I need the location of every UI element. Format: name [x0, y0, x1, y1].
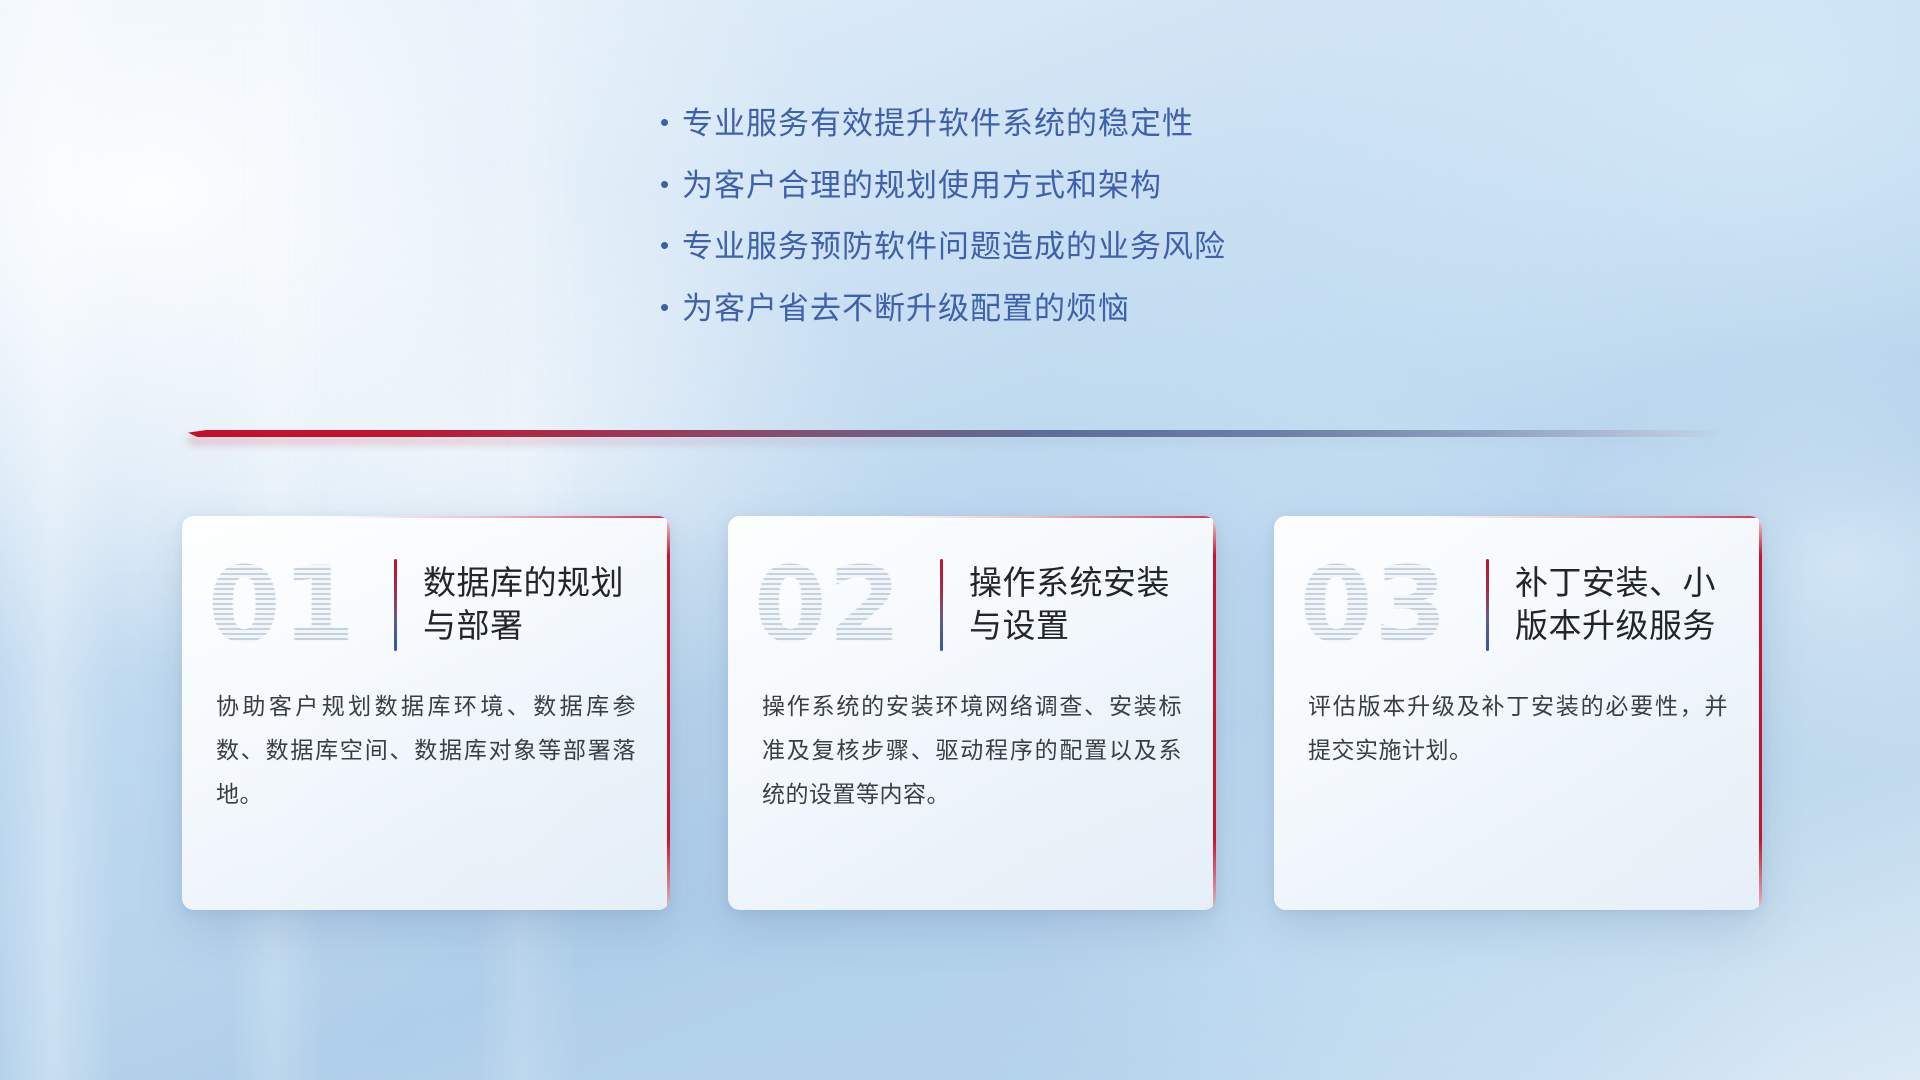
card-header: 01 数据库的规划与部署 [182, 516, 670, 666]
list-item: • 为客户合理的规划使用方式和架构 [660, 166, 1226, 206]
list-item: • 专业服务预防软件问题造成的业务风险 [660, 227, 1226, 267]
card-header: 03 补丁安装、小版本升级服务 [1274, 516, 1762, 666]
card-divider-bar [1486, 559, 1489, 651]
card-description: 协助客户规划数据库环境、数据库参数、数据库空间、数据库对象等部署落地。 [182, 666, 670, 816]
card-description: 评估版本升级及补丁安装的必要性，并提交实施计划。 [1274, 666, 1762, 772]
card-header: 02 操作系统安装与设置 [728, 516, 1216, 666]
section-divider [188, 424, 1728, 446]
card-number-badge: 02 [754, 553, 940, 657]
card-divider-bar [940, 559, 943, 651]
card-description: 操作系统的安装环境网络调查、安装标准及复核步骤、驱动程序的配置以及系统的设置等内… [728, 666, 1216, 816]
card-number-badge: 01 [208, 553, 394, 657]
benefits-bullet-list: • 专业服务有效提升软件系统的稳定性 • 为客户合理的规划使用方式和架构 • 专… [660, 104, 1226, 351]
bullet-text: 为客户合理的规划使用方式和架构 [682, 166, 1162, 206]
service-card-group: 01 数据库的规划与部署 协助客户规划数据库环境、数据库参数、数据库空间、数据库… [182, 516, 1762, 910]
divider-glow [188, 437, 1728, 445]
card-title: 数据库的规划与部署 [423, 562, 636, 648]
bullet-text: 专业服务预防软件问题造成的业务风险 [682, 227, 1226, 267]
divider-line [188, 430, 1728, 437]
bullet-dot-icon: • [660, 294, 682, 320]
bullet-text: 专业服务有效提升软件系统的稳定性 [682, 104, 1194, 144]
list-item: • 为客户省去不断升级配置的烦恼 [660, 289, 1226, 329]
slide-canvas: • 专业服务有效提升软件系统的稳定性 • 为客户合理的规划使用方式和架构 • 专… [0, 0, 1920, 1080]
card-title: 操作系统安装与设置 [969, 562, 1182, 648]
service-card-02[interactable]: 02 操作系统安装与设置 操作系统的安装环境网络调查、安装标准及复核步骤、驱动程… [728, 516, 1216, 910]
bullet-text: 为客户省去不断升级配置的烦恼 [682, 289, 1130, 329]
bullet-dot-icon: • [660, 171, 682, 197]
card-divider-bar [394, 559, 397, 651]
service-card-01[interactable]: 01 数据库的规划与部署 协助客户规划数据库环境、数据库参数、数据库空间、数据库… [182, 516, 670, 910]
service-card-03[interactable]: 03 补丁安装、小版本升级服务 评估版本升级及补丁安装的必要性，并提交实施计划。 [1274, 516, 1762, 910]
card-title: 补丁安装、小版本升级服务 [1515, 562, 1728, 648]
list-item: • 专业服务有效提升软件系统的稳定性 [660, 104, 1226, 144]
bullet-dot-icon: • [660, 232, 682, 258]
card-number-badge: 03 [1300, 553, 1486, 657]
bullet-dot-icon: • [660, 109, 682, 135]
